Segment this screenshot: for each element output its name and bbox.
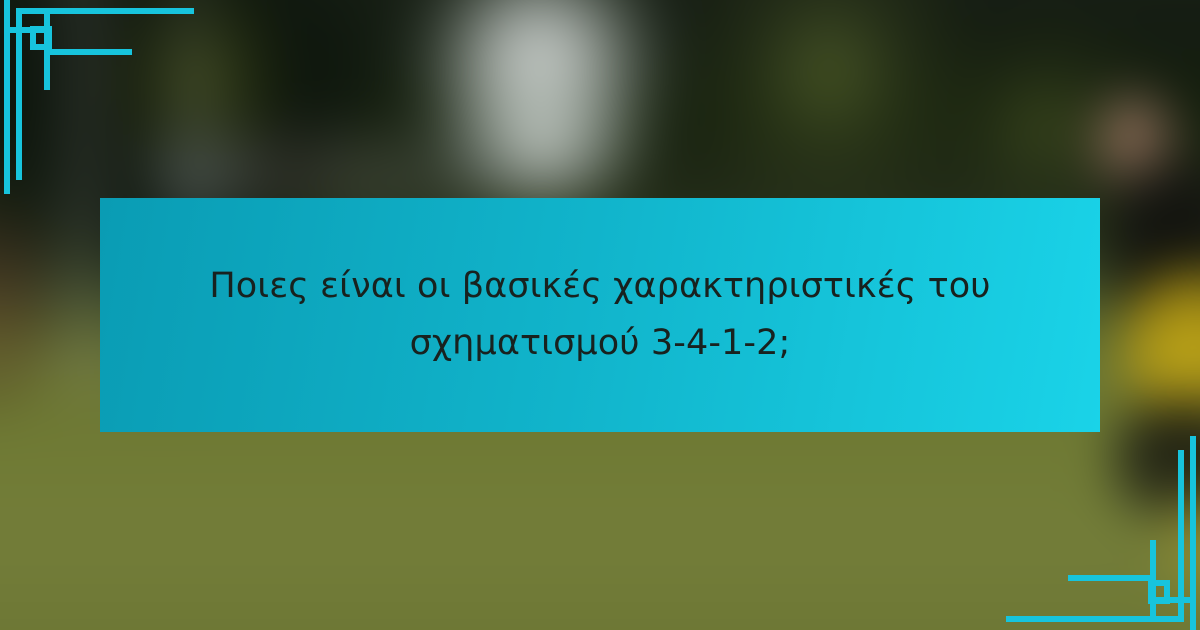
ornament-br-horizontal-bottom xyxy=(1006,616,1184,622)
ornament-horizontal-third xyxy=(44,49,132,55)
caption-text: Ποιες είναι οι βασικές χαρακτηριστικές τ… xyxy=(170,258,1030,371)
ornament-horizontal-top xyxy=(16,8,194,14)
caption-panel: Ποιες είναι οι βασικές χαρακτηριστικές τ… xyxy=(100,198,1100,432)
bottom-right-corner-ornament xyxy=(900,410,1200,630)
ornament-vertical-inner xyxy=(16,8,22,180)
ornament-br-square-right xyxy=(1164,580,1170,604)
ornament-br-square-left xyxy=(1148,580,1154,604)
slide-canvas: Ποιες είναι οι βασικές χαρακτηριστικές τ… xyxy=(0,0,1200,630)
top-left-corner-ornament xyxy=(0,0,300,220)
ornament-square-right xyxy=(46,26,52,50)
ornament-br-horizontal-third xyxy=(1068,575,1156,581)
ornament-square-left xyxy=(30,26,36,50)
